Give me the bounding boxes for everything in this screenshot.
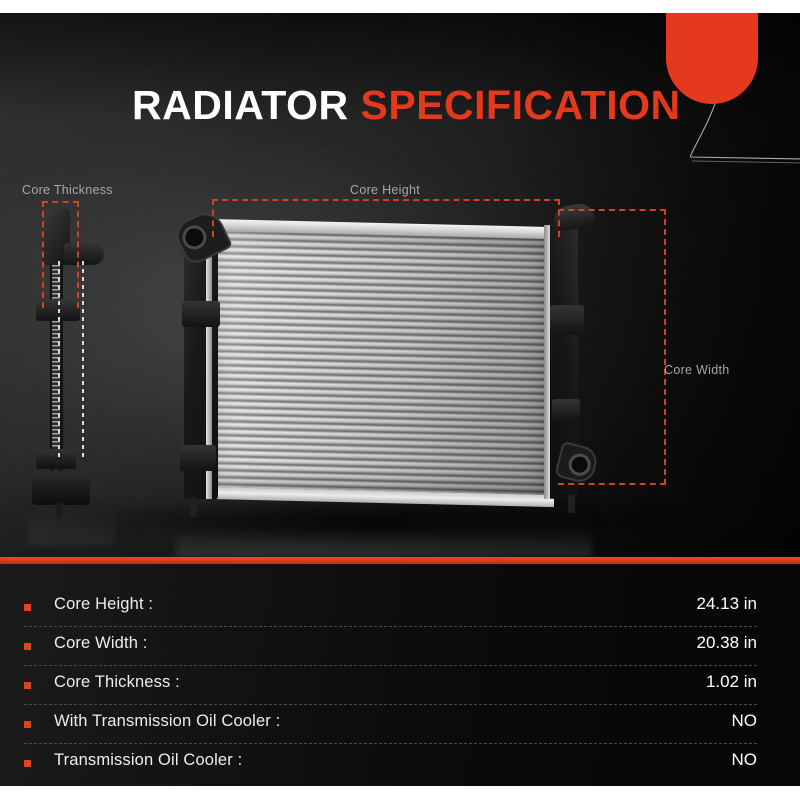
spec-value: 20.38 in — [697, 633, 758, 653]
callout-label-core-height: Core Height — [350, 183, 420, 197]
spec-value: 1.02 in — [706, 672, 757, 692]
mount-pin-right — [568, 495, 575, 513]
spec-label: Transmission Oil Cooler : — [54, 751, 242, 770]
core-sheen-overlay — [210, 227, 550, 495]
dark-stage: RADIATOR SPECIFICATION — [0, 13, 800, 786]
spec-row-core-thickness: Core Thickness : 1.02 in — [24, 666, 757, 705]
callout-box-core-width — [558, 209, 666, 485]
accent-swoosh-lines — [690, 95, 800, 167]
bullet-icon — [24, 643, 31, 650]
side-view-bottom-tank — [32, 471, 90, 505]
measure-dotted-line-right — [82, 261, 84, 461]
radiator-front-view — [176, 209, 592, 509]
title-main-text: RADIATOR — [132, 82, 349, 128]
spec-value: NO — [732, 750, 758, 770]
callout-box-core-thickness — [42, 201, 79, 308]
spec-label: With Transmission Oil Cooler : — [54, 712, 280, 731]
top-white-band — [0, 0, 800, 13]
callout-box-core-height — [212, 199, 560, 237]
bullet-icon — [24, 721, 31, 728]
radiator-core-fins — [210, 227, 550, 495]
right-tank-edge — [544, 225, 550, 499]
spec-label: Core Thickness : — [54, 673, 180, 692]
mount-pin-left — [190, 497, 197, 517]
side-view-bracket-lower — [36, 449, 76, 469]
spec-row-with-transmission-oil-cooler: With Transmission Oil Cooler : NO — [24, 705, 757, 744]
bullet-icon — [24, 682, 31, 689]
spec-label: Core Height : — [54, 595, 153, 614]
callout-label-core-width: Core Width — [664, 363, 730, 377]
spec-row-core-height: Core Height : 24.13 in — [24, 588, 757, 627]
bullet-icon — [24, 604, 31, 611]
spec-value: 24.13 in — [697, 594, 758, 614]
mounting-bracket-left-upper — [182, 301, 220, 327]
spec-label: Core Width : — [54, 634, 148, 653]
spec-row-core-width: Core Width : 20.38 in — [24, 627, 757, 666]
spec-list: Core Height : 24.13 in Core Width : 20.3… — [0, 564, 800, 786]
spec-value: NO — [732, 711, 758, 731]
callout-label-core-thickness: Core Thickness — [22, 183, 113, 197]
title-accent-text: SPECIFICATION — [361, 82, 681, 128]
bullet-icon — [24, 760, 31, 767]
mounting-bracket-left-lower — [180, 445, 216, 471]
spec-sheet-page: RADIATOR SPECIFICATION — [0, 0, 800, 800]
spec-row-transmission-oil-cooler: Transmission Oil Cooler : NO — [24, 744, 757, 783]
bottom-white-band — [0, 786, 800, 800]
orange-divider-rule — [0, 557, 800, 564]
page-title: RADIATOR SPECIFICATION — [132, 85, 681, 126]
measure-dotted-line-left — [58, 261, 60, 461]
side-view-mount-pin — [56, 503, 62, 519]
